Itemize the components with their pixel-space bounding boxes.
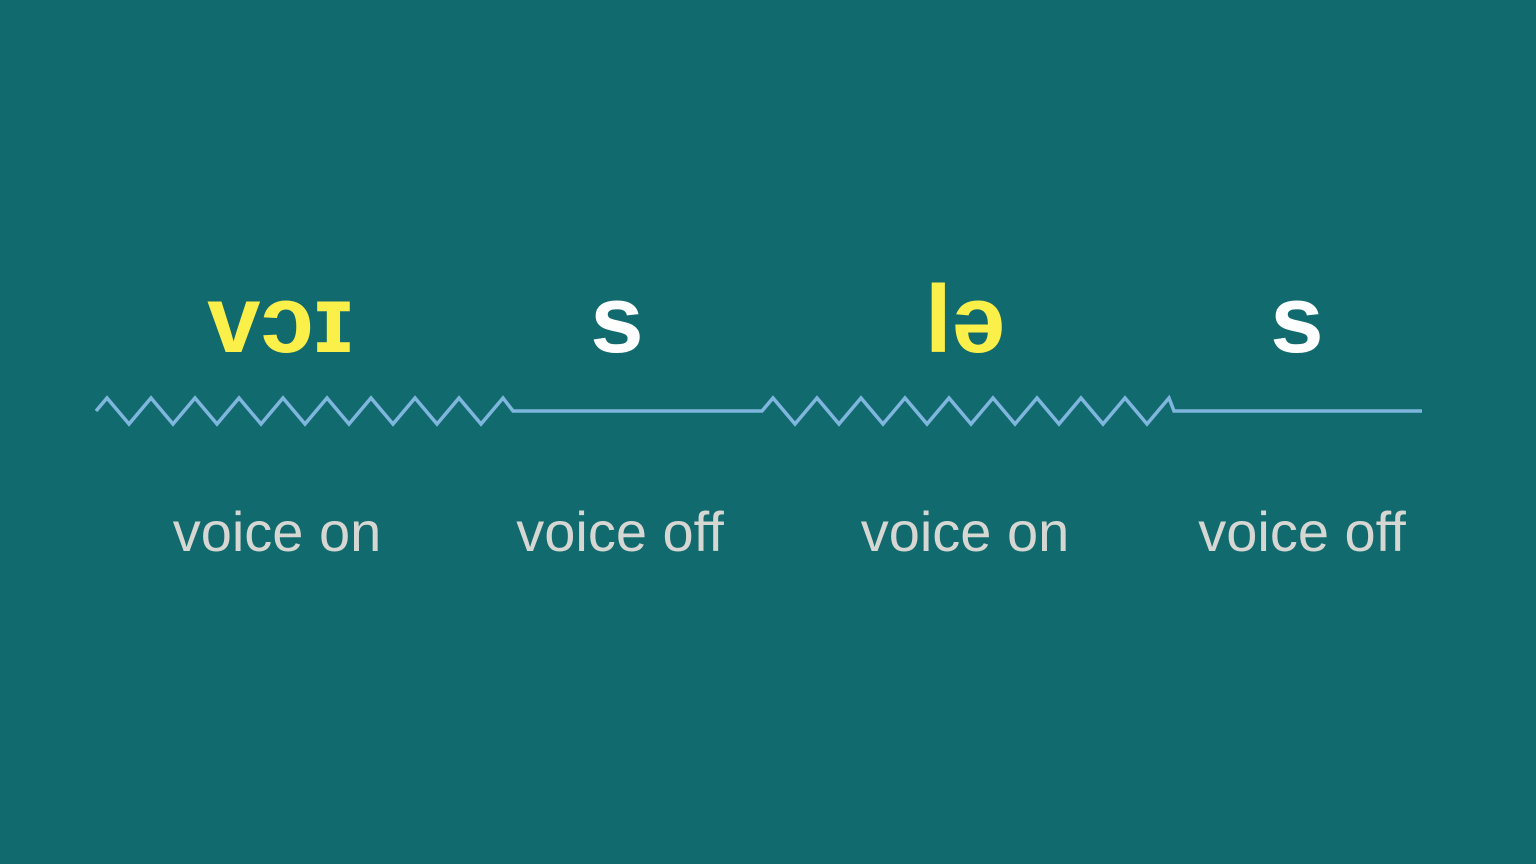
diagram-canvas: vɔɪ s lə s voice on voice off voice on v… [0, 0, 1536, 864]
phoneme-segment-3: lə [925, 272, 1005, 368]
caption-voice-on-1: voice on [173, 504, 382, 560]
caption-voice-off-1: voice off [516, 504, 724, 560]
voicing-waveform [0, 0, 1536, 864]
phoneme-segment-4: s [1270, 272, 1323, 368]
waveform-path [96, 398, 1422, 424]
phoneme-segment-2: s [590, 272, 643, 368]
phoneme-segment-1: vɔɪ [207, 272, 353, 368]
caption-voice-off-2: voice off [1198, 504, 1406, 560]
caption-voice-on-2: voice on [861, 504, 1070, 560]
